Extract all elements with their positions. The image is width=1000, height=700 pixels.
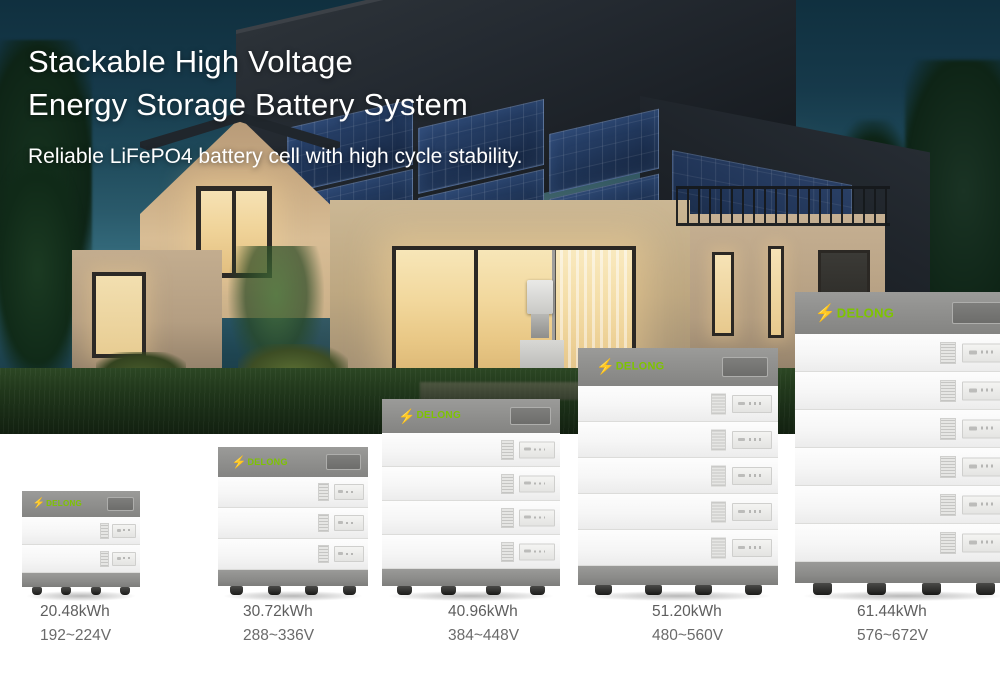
brand-logo-text: DELONG (416, 411, 461, 421)
display-screen (952, 302, 1000, 324)
battery-module (795, 334, 1000, 372)
battery-module (795, 486, 1000, 524)
caption-capacity: 61.44kWh (857, 600, 928, 624)
module-label-panel (962, 381, 1000, 400)
battery-module (578, 494, 778, 530)
battery-module (22, 517, 140, 545)
module-label-panel (962, 457, 1000, 476)
module-label-panel (962, 419, 1000, 438)
unit-body: ⚡DELONG (218, 447, 368, 595)
unit-body: ⚡DELONG (382, 399, 560, 595)
battery-module-stack (382, 433, 560, 569)
unit-body: ⚡DELONG (578, 348, 778, 595)
module-label-panel (732, 503, 772, 521)
vent-grille (711, 537, 726, 558)
brand-logo: ⚡DELONG (815, 305, 895, 322)
battery-module (795, 448, 1000, 486)
module-label-panel (334, 546, 364, 562)
vent-grille (940, 532, 956, 554)
display-screen (510, 407, 551, 425)
module-label-panel (732, 431, 772, 449)
brand-logo-text: DELONG (247, 458, 287, 467)
battery-module-stack (578, 386, 778, 566)
vent-grille (711, 465, 726, 486)
battery-module-stack (218, 477, 368, 570)
vent-grille (940, 456, 956, 478)
controller-head: ⚡DELONG (795, 292, 1000, 334)
controller-head: ⚡DELONG (22, 491, 140, 517)
battery-module (795, 410, 1000, 448)
battery-unit-3: ⚡DELONG (382, 399, 560, 595)
module-label-panel (962, 495, 1000, 514)
module-label-panel (519, 475, 555, 492)
module-label-panel (732, 467, 772, 485)
caption-capacity: 30.72kWh (243, 600, 314, 624)
headline-line-2: Energy Storage Battery System (28, 83, 668, 126)
lightning-bolt-icon: ⚡ (33, 499, 45, 509)
module-label-panel (519, 509, 555, 526)
battery-module (578, 422, 778, 458)
caption-voltage: 192~224V (40, 624, 111, 648)
brand-logo: ⚡DELONG (398, 409, 461, 423)
brand-logo-text: DELONG (46, 500, 82, 508)
controller-head: ⚡DELONG (578, 348, 778, 386)
battery-module-stack (22, 517, 140, 573)
display-screen (722, 357, 768, 377)
base-plinth (218, 570, 368, 586)
base-plinth (578, 566, 778, 585)
brand-logo-text: DELONG (837, 307, 894, 320)
brand-logo-text: DELONG (616, 362, 665, 373)
lightning-bolt-icon: ⚡ (596, 360, 615, 375)
battery-module (218, 477, 368, 508)
lightning-bolt-icon: ⚡ (398, 409, 415, 423)
battery-module (795, 372, 1000, 410)
brand-logo: ⚡DELONG (232, 456, 288, 468)
headline-line-1: Stackable High Voltage (28, 40, 668, 83)
battery-module (382, 433, 560, 467)
vent-grille (501, 474, 514, 494)
controller-head: ⚡DELONG (218, 447, 368, 477)
product-caption: 40.96kWh384~448V (448, 600, 519, 648)
vent-grille (940, 342, 956, 364)
caption-voltage: 576~672V (857, 624, 928, 648)
hero-headline: Stackable High Voltage Energy Storage Ba… (28, 40, 668, 126)
vent-grille (318, 483, 329, 501)
caption-voltage: 288~336V (243, 624, 314, 648)
module-label-panel (334, 515, 364, 531)
module-label-panel (962, 343, 1000, 362)
brand-logo: ⚡DELONG (33, 499, 82, 509)
module-label-panel (519, 543, 555, 560)
vent-grille (501, 542, 514, 562)
vent-grille (940, 494, 956, 516)
caption-capacity: 20.48kWh (40, 600, 111, 624)
controller-head: ⚡DELONG (382, 399, 560, 433)
vent-grille (940, 418, 956, 440)
battery-module (218, 508, 368, 539)
module-label-panel (334, 484, 364, 500)
hero-subtitle: Reliable LiFePO4 battery cell with high … (28, 142, 523, 172)
battery-module (218, 539, 368, 570)
battery-unit-4: ⚡DELONG (578, 348, 778, 595)
vent-grille (318, 545, 329, 563)
battery-module-stack (795, 334, 1000, 562)
module-label-panel (732, 395, 772, 413)
module-label-panel (519, 441, 555, 458)
vent-grille (501, 440, 514, 460)
battery-unit-5: ⚡DELONG (795, 292, 1000, 595)
product-banner: Stackable High Voltage Energy Storage Ba… (0, 0, 1000, 700)
product-caption: 51.20kWh480~560V (652, 600, 723, 648)
battery-module (578, 458, 778, 494)
display-screen (107, 497, 134, 511)
lightning-bolt-icon: ⚡ (815, 305, 836, 322)
vent-grille (940, 380, 956, 402)
unit-body: ⚡DELONG (795, 292, 1000, 595)
caption-voltage: 480~560V (652, 624, 723, 648)
battery-unit-2: ⚡DELONG (218, 447, 368, 595)
battery-module (578, 530, 778, 566)
battery-module (795, 524, 1000, 562)
vent-grille (100, 523, 109, 539)
module-label-panel (962, 533, 1000, 552)
base-plinth (382, 569, 560, 586)
product-caption: 20.48kWh192~224V (40, 600, 111, 648)
caption-voltage: 384~448V (448, 624, 519, 648)
battery-module (382, 467, 560, 501)
module-label-panel (732, 539, 772, 557)
battery-unit-1: ⚡DELONG (22, 491, 140, 595)
caption-capacity: 40.96kWh (448, 600, 519, 624)
module-label-panel (112, 524, 136, 538)
vent-grille (318, 514, 329, 532)
vent-grille (501, 508, 514, 528)
vent-grille (711, 393, 726, 414)
brand-logo: ⚡DELONG (596, 360, 665, 375)
base-plinth (22, 573, 140, 587)
module-label-panel (112, 552, 136, 566)
product-caption: 61.44kWh576~672V (857, 600, 928, 648)
battery-module (382, 535, 560, 569)
vent-grille (711, 501, 726, 522)
vent-grille (100, 551, 109, 567)
vent-grille (711, 429, 726, 450)
product-caption: 30.72kWh288~336V (243, 600, 314, 648)
product-captions: 20.48kWh192~224V30.72kWh288~336V40.96kWh… (0, 600, 1000, 670)
unit-body: ⚡DELONG (22, 491, 140, 595)
caption-capacity: 51.20kWh (652, 600, 723, 624)
battery-module (382, 501, 560, 535)
battery-module (578, 386, 778, 422)
display-screen (326, 454, 361, 470)
battery-module (22, 545, 140, 573)
base-plinth (795, 562, 1000, 583)
lightning-bolt-icon: ⚡ (232, 456, 247, 468)
